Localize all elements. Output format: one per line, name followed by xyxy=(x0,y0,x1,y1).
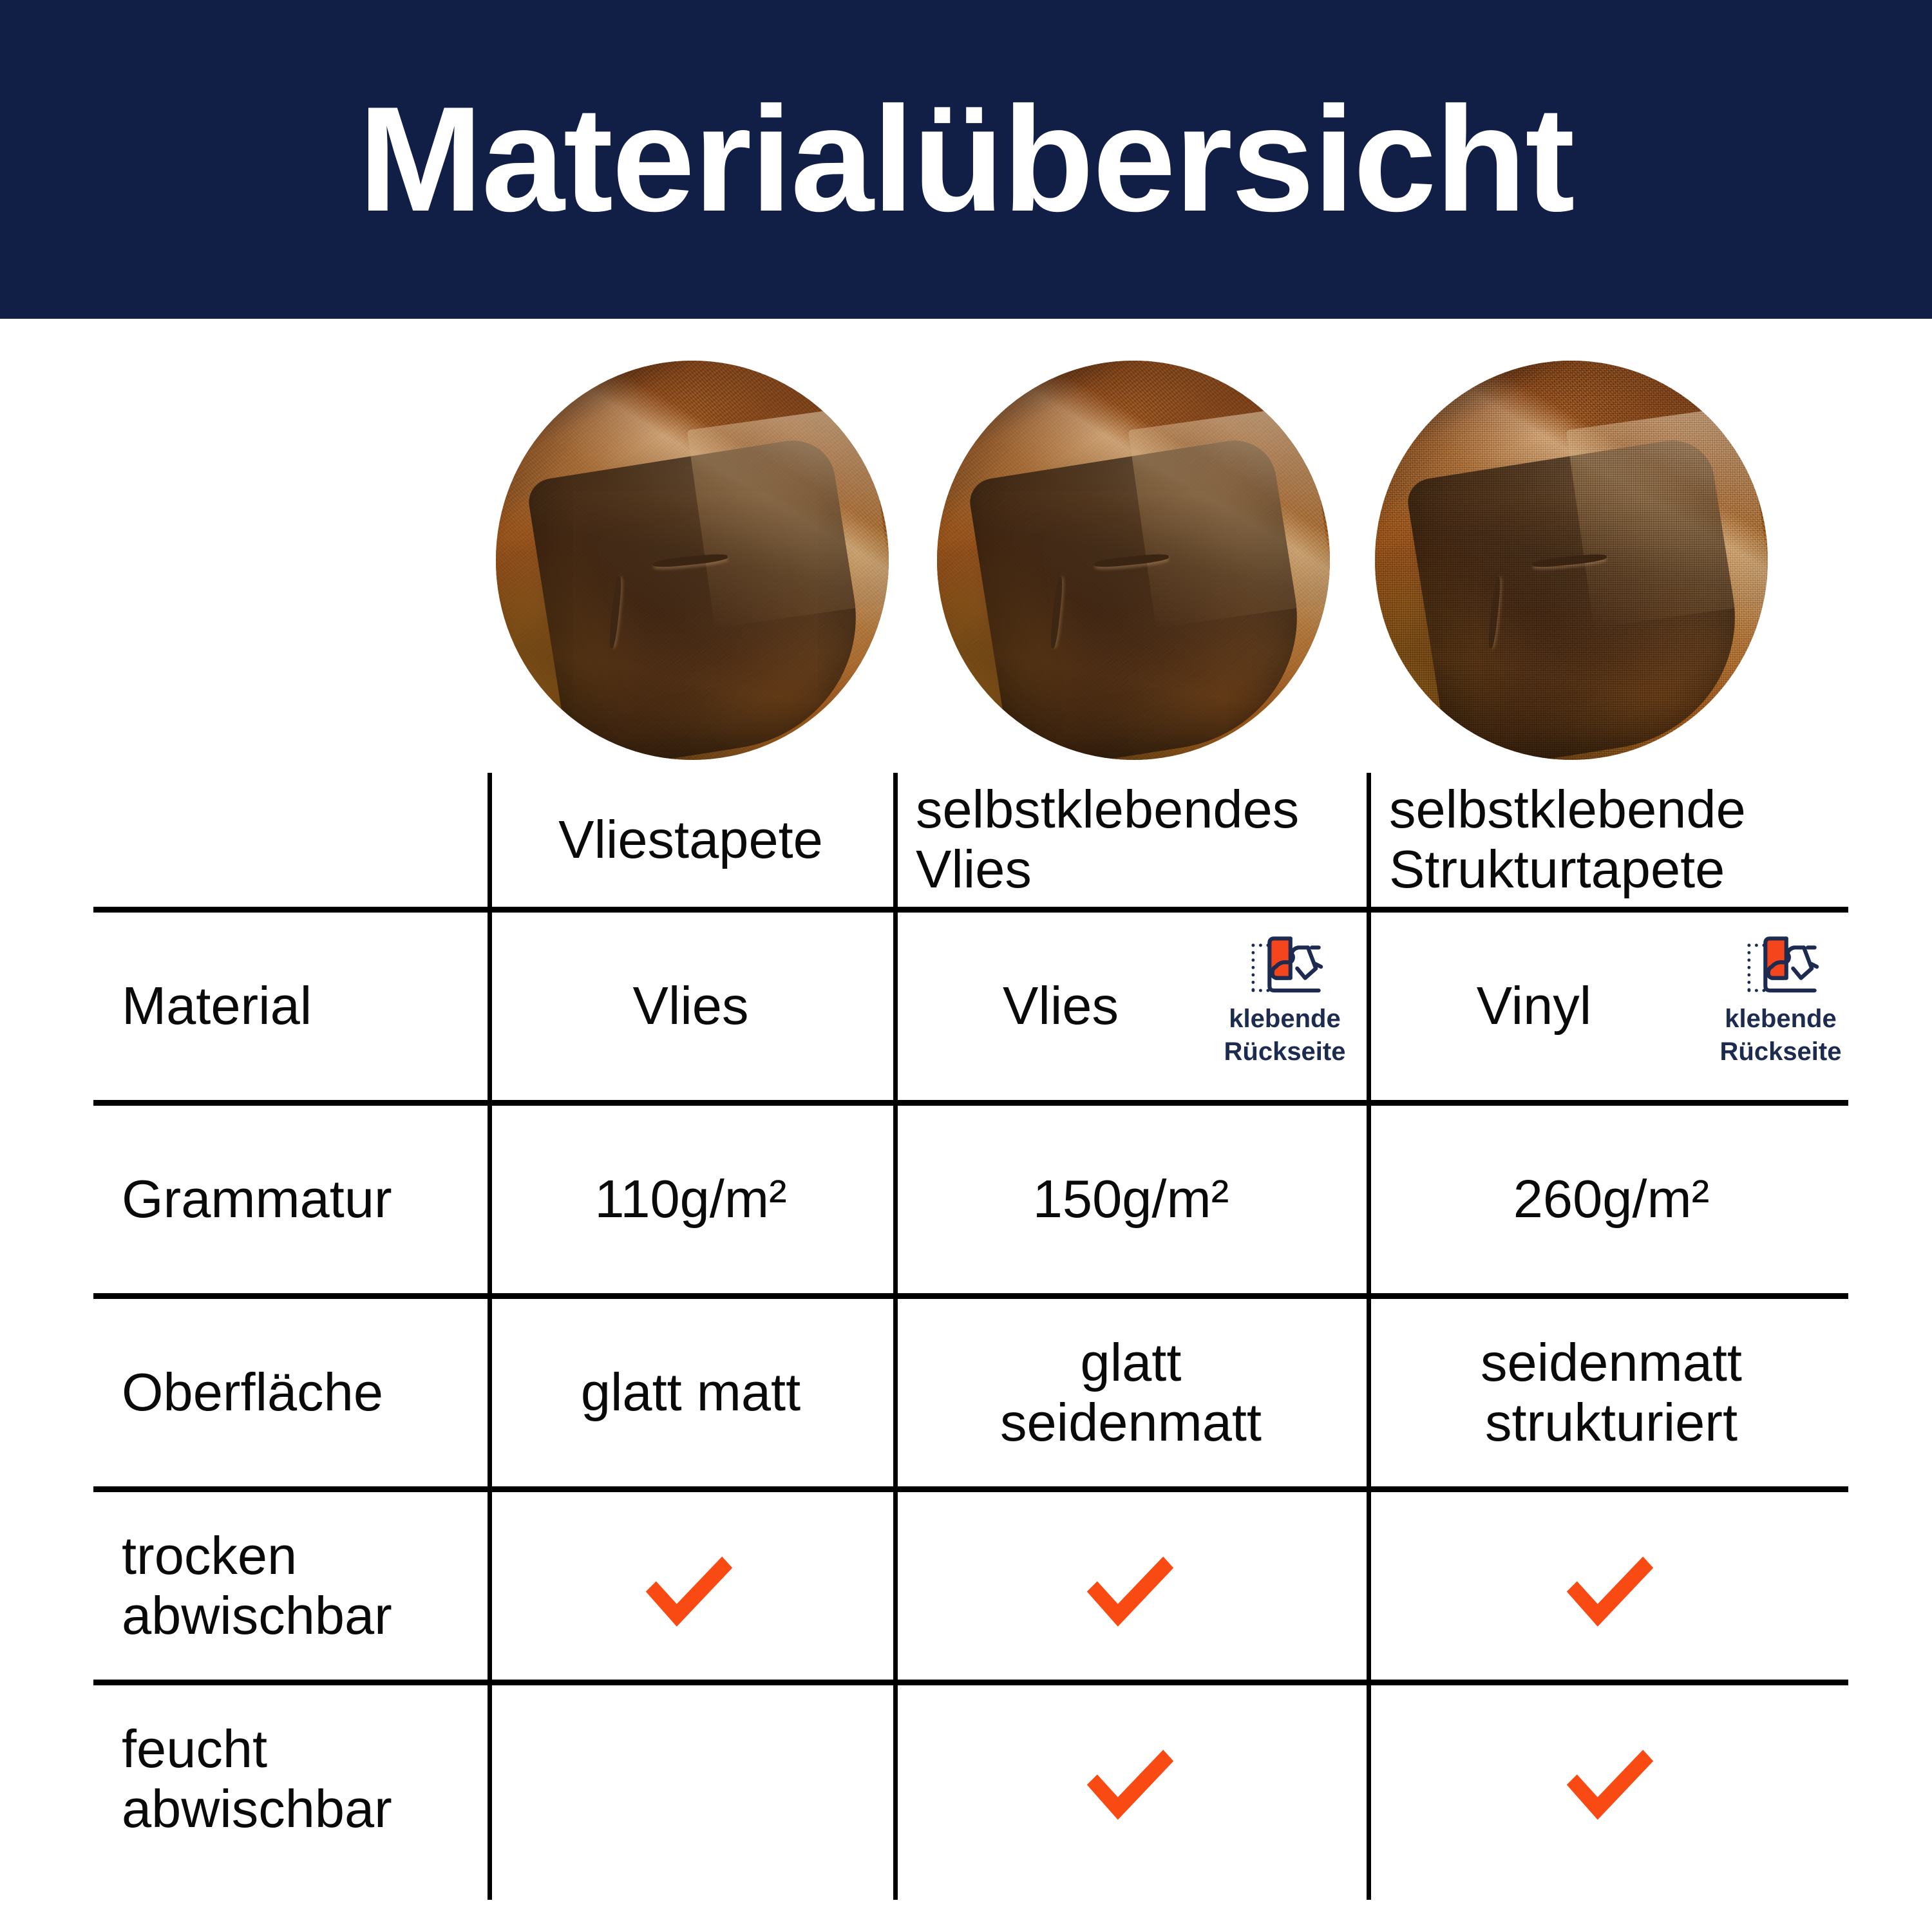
material-comparison-table: Vliestapete selbstklebendes Vlies selbst… xyxy=(0,0,1932,1932)
cell-material-col1: Vlies xyxy=(493,913,889,1100)
column-header-3: selbstklebende Strukturtapete xyxy=(1375,773,1866,907)
cell-value: 260g/m² xyxy=(1513,1170,1709,1229)
row-label-material: Material xyxy=(93,913,515,1100)
cell-material-col3: Vinyl xyxy=(1373,913,1695,1100)
cell-oberflaeche-col3: seidenmatt strukturiert xyxy=(1373,1299,1850,1486)
badge-line1: klebende xyxy=(1229,1005,1340,1034)
cell-material-col2: Vlies xyxy=(900,913,1222,1100)
row-divider-2 xyxy=(93,1293,1848,1299)
row-divider-4 xyxy=(93,1680,1848,1685)
badge-line1: klebende xyxy=(1725,1005,1836,1034)
column-header-2: selbstklebendes Vlies xyxy=(902,773,1376,907)
column-divider-3 xyxy=(1367,773,1371,1900)
badge-klebende-rueckseite-col3: klebende Rückseite xyxy=(1716,935,1845,1067)
check-trocken-col3 xyxy=(1558,1546,1662,1629)
checkmark-icon xyxy=(1079,1546,1182,1629)
row-label-feucht-abwischbar: feucht abwischbar xyxy=(93,1685,515,1873)
check-feucht-col2 xyxy=(1079,1739,1182,1823)
cell-value: 110g/m² xyxy=(594,1170,786,1229)
row-divider-header xyxy=(93,907,1848,913)
checkmark-icon xyxy=(1558,1546,1662,1629)
row-label-text: feucht abwischbar xyxy=(122,1719,469,1839)
peel-backing-icon xyxy=(1734,935,1828,1001)
cell-grammatur-col1: 110g/m² xyxy=(493,1106,889,1293)
column-header-1: Vliestapete xyxy=(493,773,889,907)
row-label-text: trocken abwischbar xyxy=(122,1526,469,1646)
cell-value: Vlies xyxy=(1003,976,1119,1036)
checkmark-icon xyxy=(1558,1739,1662,1823)
cell-oberflaeche-col2: glatt seidenmatt xyxy=(900,1299,1362,1486)
check-trocken-col2 xyxy=(1079,1546,1182,1629)
checkmark-icon xyxy=(1079,1739,1182,1823)
row-label-text: Oberfläche xyxy=(122,1363,383,1423)
row-label-text: Grammatur xyxy=(122,1170,392,1229)
cell-value: seidenmatt strukturiert xyxy=(1441,1333,1782,1453)
cell-value: glatt seidenmatt xyxy=(983,1333,1279,1453)
row-divider-3 xyxy=(93,1486,1848,1492)
badge-klebende-rueckseite-col2: klebende Rückseite xyxy=(1220,935,1349,1067)
cell-value: glatt matt xyxy=(581,1363,800,1423)
badge-line2: Rückseite xyxy=(1720,1037,1842,1067)
check-trocken-col1 xyxy=(638,1546,741,1629)
column-divider-2 xyxy=(893,773,898,1900)
cell-value: Vlies xyxy=(633,976,749,1036)
row-label-text: Material xyxy=(122,976,312,1036)
cell-grammatur-col2: 150g/m² xyxy=(900,1106,1362,1293)
cell-value: 150g/m² xyxy=(1033,1170,1229,1229)
column-header-label: selbstklebendes Vlies xyxy=(916,780,1376,900)
cell-value: Vinyl xyxy=(1477,976,1591,1036)
badge-line2: Rückseite xyxy=(1224,1037,1346,1067)
row-label-trocken-abwischbar: trocken abwischbar xyxy=(93,1492,515,1680)
row-label-grammatur: Grammatur xyxy=(93,1106,515,1293)
peel-backing-icon xyxy=(1238,935,1332,1001)
column-header-label: selbstklebende Strukturtapete xyxy=(1389,780,1866,900)
cell-oberflaeche-col1: glatt matt xyxy=(493,1299,889,1486)
checkmark-icon xyxy=(638,1546,741,1629)
row-label-oberflaeche: Oberfläche xyxy=(93,1299,515,1486)
cell-grammatur-col3: 260g/m² xyxy=(1373,1106,1850,1293)
check-feucht-col3 xyxy=(1558,1739,1662,1823)
column-header-label: Vliestapete xyxy=(558,810,823,870)
row-divider-1 xyxy=(93,1100,1848,1106)
